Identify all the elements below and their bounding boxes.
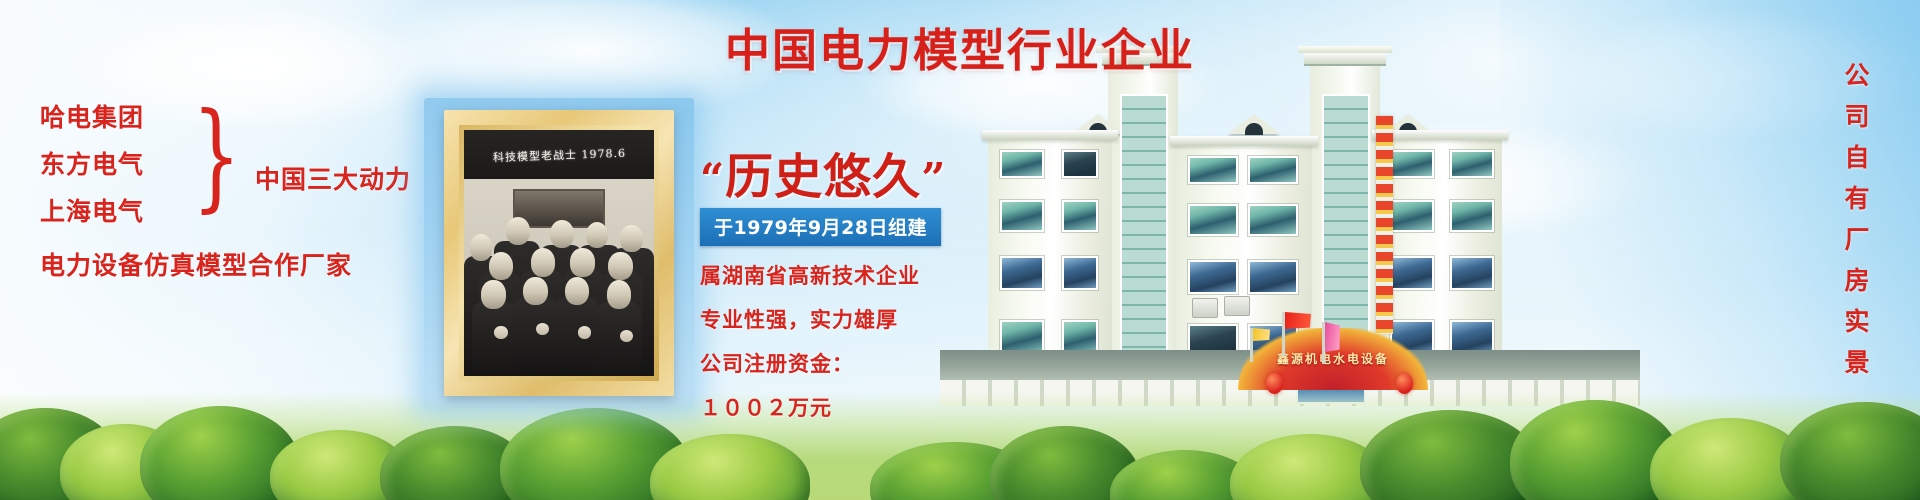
photo-person-head <box>608 252 633 280</box>
photo-person-hand <box>578 326 591 338</box>
historic-group-photo: 科技模型老战士 1978.6 <box>464 130 654 376</box>
photo-person <box>472 302 516 376</box>
registered-capital-value: １００２万元 <box>700 392 1000 422</box>
building-window <box>1450 200 1494 232</box>
highlight-line: 属湖南省高新技术企业 <box>700 260 1000 290</box>
stairwell-glazing <box>1120 94 1168 386</box>
photo-person <box>597 302 641 376</box>
photo-person-head <box>523 277 548 305</box>
founded-date-badge: 于1979年9月28日组建 <box>700 208 941 246</box>
building-gable <box>1228 114 1280 134</box>
building-window <box>1188 260 1238 294</box>
photo-person <box>555 298 599 376</box>
building-window <box>1062 200 1098 232</box>
flag-icon <box>1322 322 1325 364</box>
promo-banner: 鑫源机电水电设备 中国电力模型行业企业 哈电集团 东方电气 上海电气 } 中国三… <box>0 0 1920 500</box>
photo-person-head <box>550 220 575 248</box>
photo-person <box>513 298 557 376</box>
photo-person-head <box>607 280 632 308</box>
lantern-icon <box>1266 373 1283 394</box>
brand-list: 哈电集团 东方电气 上海电气 } <box>40 105 230 224</box>
middle-text-block: “历史悠久” 于1979年9月28日组建 属湖南省高新技术企业 专业性强，实力雄… <box>700 152 1000 422</box>
photo-person-head <box>470 234 493 261</box>
building-window <box>1390 200 1434 232</box>
entrance-arch-text: 鑫源机电水电设备 <box>1238 350 1428 367</box>
vertical-banner-strip <box>1376 116 1393 334</box>
building-window <box>1188 156 1238 184</box>
building-window <box>1188 204 1238 236</box>
building-window <box>1248 260 1298 294</box>
flag-icon <box>1282 312 1285 356</box>
building-window <box>1062 256 1098 290</box>
building-window <box>1062 150 1098 178</box>
banner-title: 中国电力模型行业企业 <box>0 14 1920 79</box>
photo-person-head <box>570 248 595 276</box>
brace-label: 中国三大动力 <box>255 160 411 196</box>
quote-open-mark: “ <box>700 154 725 203</box>
quote-close-mark: ” <box>921 154 946 203</box>
photo-person-head <box>620 225 643 252</box>
left-text-block: 哈电集团 东方电气 上海电气 } 中国三大动力 电力设备仿真模型合作厂家 <box>40 105 420 282</box>
flag-icon <box>1250 328 1253 362</box>
curly-brace-icon: } <box>192 101 241 212</box>
framed-historic-photo: 科技模型老战士 1978.6 <box>444 110 674 396</box>
building-window <box>1248 156 1298 184</box>
building-window <box>1000 256 1044 290</box>
photo-people-group <box>464 199 654 376</box>
factory-building-photo: 鑫源机电水电设备 <box>980 52 1600 400</box>
photo-person-head <box>531 248 556 276</box>
air-conditioner-unit <box>1192 298 1218 318</box>
building-window <box>1000 150 1044 178</box>
building-window <box>1248 204 1298 236</box>
photo-banner-text: 科技模型老战士 1978.6 <box>492 144 625 165</box>
vertical-caption: 公司自有厂房实景 <box>1843 62 1868 390</box>
lantern-icon <box>1396 373 1413 394</box>
highlight-line: 专业性强，实力雄厚 <box>700 304 1000 334</box>
building-cornice <box>1170 136 1318 146</box>
photo-person-head <box>506 217 531 245</box>
history-quote: “历史悠久” <box>700 152 1000 202</box>
frame-inner-bevel: 科技模型老战士 1978.6 <box>459 125 659 381</box>
photo-person-hand <box>494 326 507 338</box>
air-conditioner-unit <box>1224 296 1250 316</box>
building-window <box>1000 200 1044 232</box>
building-cornice <box>982 130 1118 140</box>
cooperation-label: 电力设备仿真模型合作厂家 <box>40 246 420 282</box>
building-window <box>1450 256 1494 290</box>
building-window <box>1390 256 1434 290</box>
quote-text: 历史悠久 <box>725 149 921 205</box>
photo-person-head <box>586 222 609 249</box>
building-window <box>1390 150 1434 178</box>
photo-person-head <box>489 252 514 280</box>
photo-person-head <box>481 280 506 308</box>
photo-person-head <box>565 277 590 305</box>
photo-banner-cloth: 科技模型老战士 1978.6 <box>464 130 654 179</box>
building-window <box>1450 150 1494 178</box>
highlight-line: 公司注册资金： <box>700 348 1000 378</box>
